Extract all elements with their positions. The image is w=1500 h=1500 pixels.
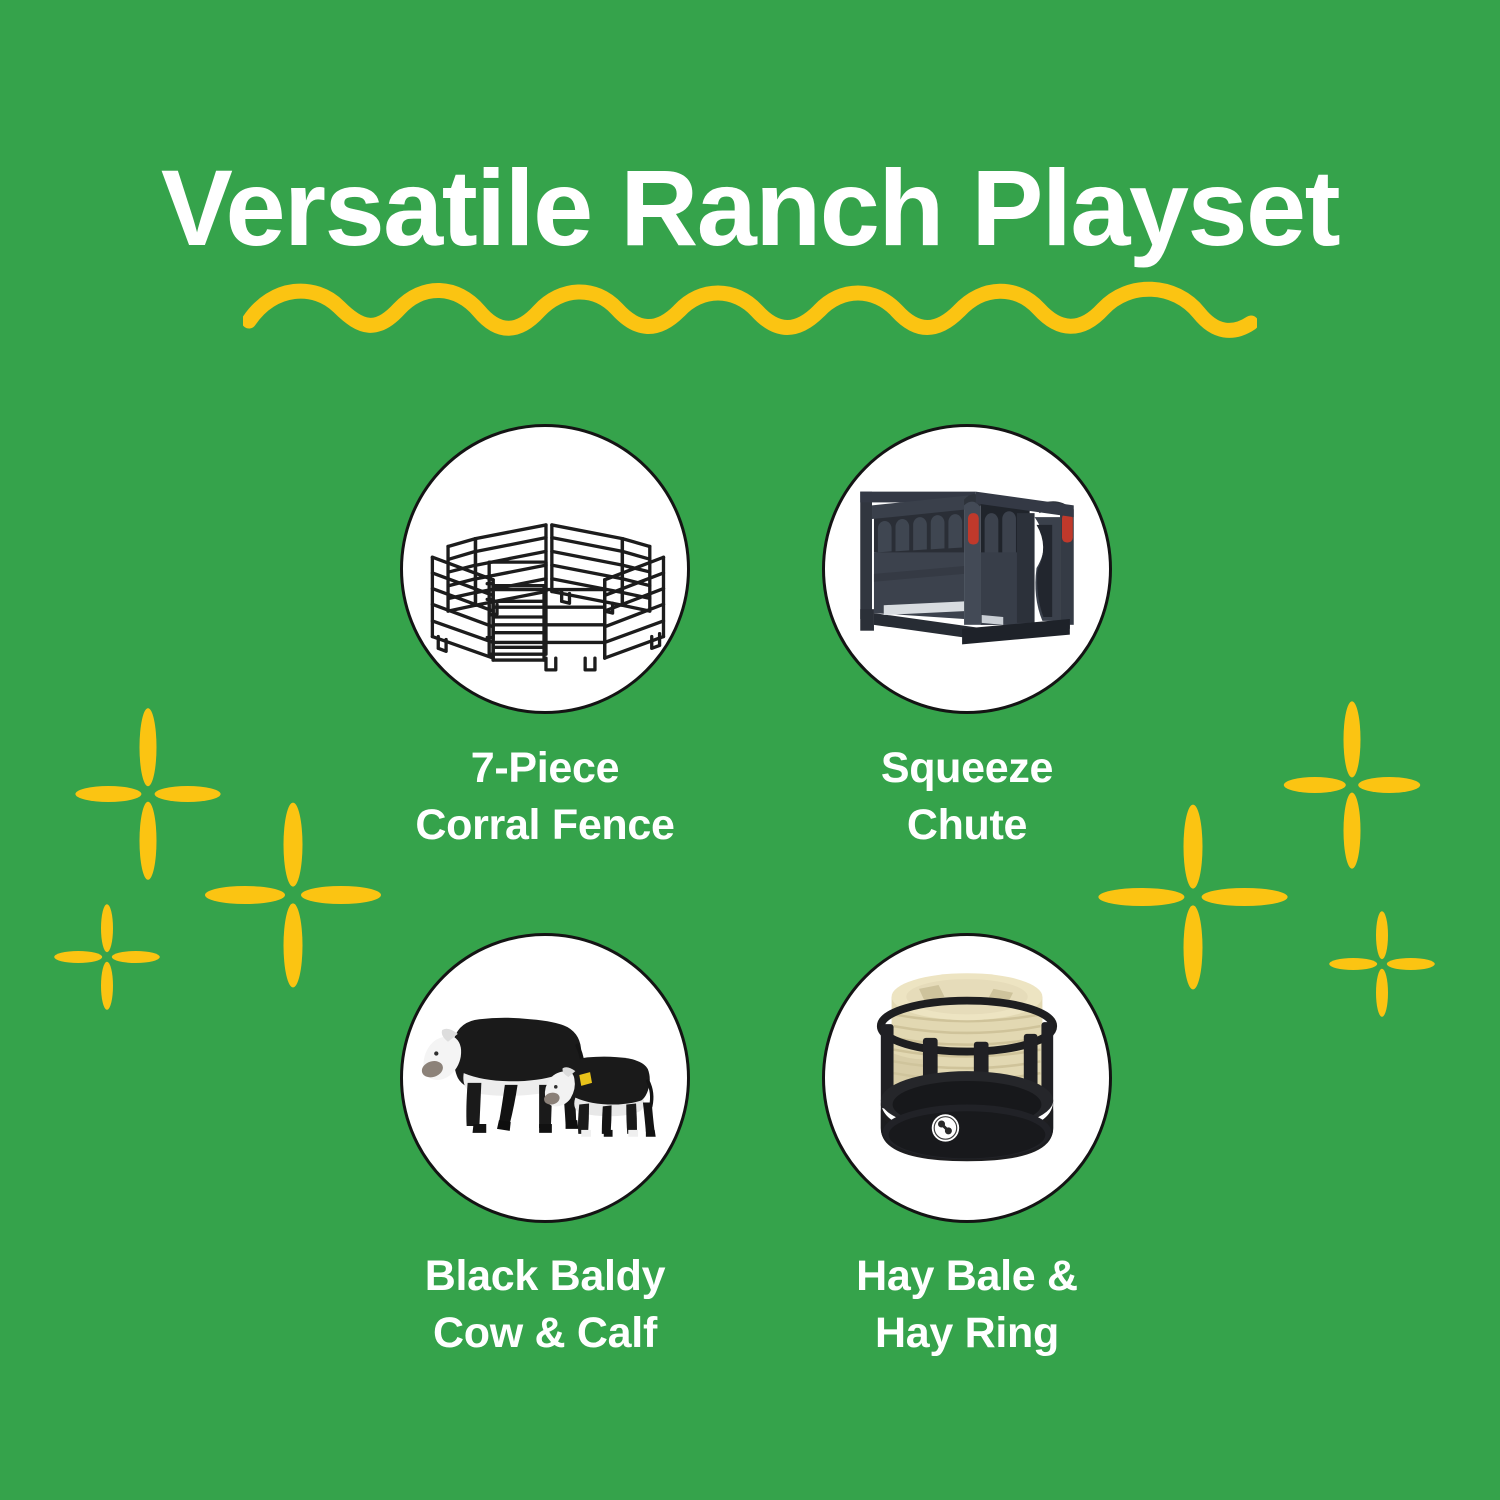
cow-and-calf-caption: Black Baldy Cow & Calf xyxy=(375,1248,715,1362)
caption-line-2: Corral Fence xyxy=(375,797,715,854)
caption-line-2: Cow & Calf xyxy=(375,1305,715,1362)
squeeze-chute-caption: Squeeze Chute xyxy=(797,740,1137,854)
corral-fence-icon xyxy=(403,427,687,711)
page-title: Versatile Ranch Playset xyxy=(0,150,1500,267)
hay-bale-hay-ring-icon xyxy=(825,936,1109,1220)
sparkle-left-3-icon xyxy=(105,955,109,959)
sparkle-left-1-icon xyxy=(146,792,150,796)
corral-fence-caption: 7-Piece Corral Fence xyxy=(375,740,715,854)
squeeze-chute-icon xyxy=(825,427,1109,711)
product-infographic-poster: Versatile Ranch Playset xyxy=(0,0,1500,1500)
title-block: Versatile Ranch Playset xyxy=(0,150,1500,267)
sparkle-right-1-icon xyxy=(1350,783,1354,787)
caption-line-2: Hay Ring xyxy=(797,1305,1137,1362)
black-baldy-cow-calf-icon xyxy=(403,936,687,1220)
caption-line-1: 7-Piece xyxy=(375,740,715,797)
squeeze-chute-image xyxy=(822,424,1112,714)
caption-line-1: Hay Bale & xyxy=(797,1248,1137,1305)
squiggle-divider-icon xyxy=(243,277,1257,339)
caption-line-1: Black Baldy xyxy=(375,1248,715,1305)
cow-and-calf-image xyxy=(400,933,690,1223)
sparkle-right-2-icon xyxy=(1191,895,1195,899)
caption-line-2: Chute xyxy=(797,797,1137,854)
hay-bale-ring-image xyxy=(822,933,1112,1223)
corral-fence-image xyxy=(400,424,690,714)
caption-line-1: Squeeze xyxy=(797,740,1137,797)
sparkle-right-3-icon xyxy=(1380,962,1384,966)
sparkle-left-2-icon xyxy=(291,893,295,897)
hay-bale-ring-caption: Hay Bale & Hay Ring xyxy=(797,1248,1137,1362)
